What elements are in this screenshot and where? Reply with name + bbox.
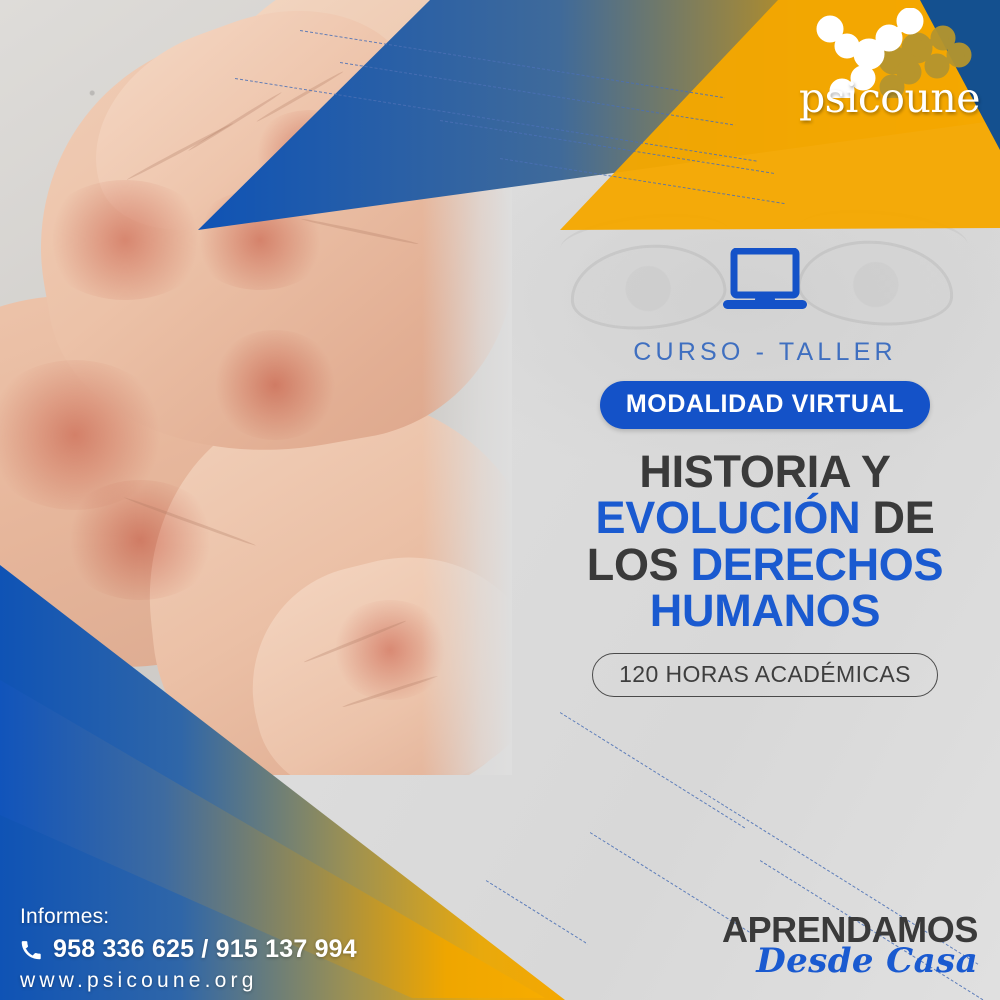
- title-line-2: EVOLUCIÓN DE: [540, 495, 990, 541]
- website-url[interactable]: www.psicoune.org: [20, 969, 450, 993]
- hours-badge-row: 120 HORAS ACADÉMICAS: [540, 634, 990, 697]
- informes-label: Informes:: [20, 905, 450, 929]
- logo-wordmark: psicoune: [797, 74, 982, 122]
- phone-numbers: 958 336 625 / 915 137 994: [53, 935, 357, 964]
- contact-block: Informes: 958 336 625 / 915 137 994 www.…: [20, 905, 450, 993]
- title-line-3: LOS DERECHOS: [540, 542, 990, 588]
- tagline-block: APRENDAMOS Desde Casa: [678, 912, 978, 978]
- laptop-icon: [721, 248, 809, 316]
- hours-badge: 120 HORAS ACADÉMICAS: [592, 653, 938, 697]
- course-content-column: CURSO - TALLER MODALIDAD VIRTUAL HISTORI…: [540, 248, 990, 697]
- phone-icon: [20, 939, 42, 961]
- poster-canvas: psicoune: [0, 0, 1000, 1000]
- title-line-4: HUMANOS: [540, 588, 990, 634]
- phone-row[interactable]: 958 336 625 / 915 137 994: [20, 935, 450, 964]
- course-title: HISTORIA Y EVOLUCIÓN DE LOS DERECHOS HUM…: [540, 449, 990, 634]
- modality-badge: MODALIDAD VIRTUAL: [600, 381, 930, 429]
- title-line-1: HISTORIA Y: [540, 449, 990, 495]
- course-kicker: CURSO - TALLER: [540, 338, 990, 367]
- brand-logo: psicoune: [797, 8, 982, 128]
- modality-badge-row: MODALIDAD VIRTUAL: [540, 381, 990, 429]
